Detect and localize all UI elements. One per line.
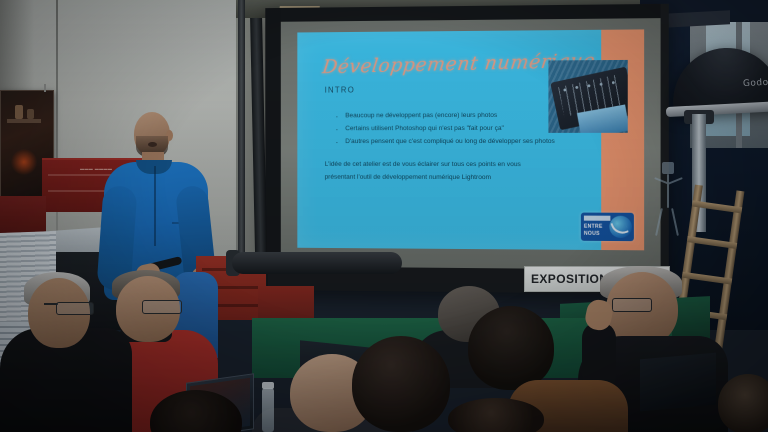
audience-head-curly (352, 336, 450, 432)
chalk-leg (655, 208, 663, 236)
projector-screen-roller (232, 252, 402, 274)
logo-top-bar (584, 216, 610, 221)
audience-glasses (142, 300, 182, 314)
logo-line-2: NOUS (584, 231, 600, 237)
slide-closing-text: L'idée de cet atelier est de vous éclair… (325, 159, 554, 185)
audience-head-dark (468, 306, 554, 390)
presentation-slide: Développement numérique INTRO Beaucoup n… (297, 29, 644, 250)
exposition-label: EXPOSITION (531, 272, 608, 286)
slide-bullet-list: Beaucoup ne développent pas (encore) leu… (336, 110, 556, 150)
audience-glasses (56, 302, 94, 315)
slide-section-label: INTRO (325, 86, 355, 95)
godox-brand-label: Godox (743, 77, 768, 89)
slide-bullet: D'autres pensent que c'est compliqué ou … (345, 136, 556, 148)
audience-head-front (448, 398, 544, 432)
presenter-mouth (148, 142, 157, 147)
logo-line-1: ENTRE (584, 224, 603, 230)
projection-screen: Développement numérique INTRO Beaucoup n… (265, 4, 669, 294)
artwork-hook (44, 84, 46, 92)
artwork-shelf (7, 119, 41, 123)
chalk-figure-drawing (648, 162, 688, 242)
screen-frame-top (265, 4, 669, 22)
slide-bullet: Certains utilisent Photoshop qui n'est p… (345, 123, 556, 135)
artwork-glow (11, 149, 37, 175)
screen-frame-right (661, 4, 669, 294)
chalk-head (662, 162, 674, 174)
chalk-body (667, 174, 669, 208)
presenter-zipper (154, 166, 156, 246)
laptop-right (640, 353, 716, 412)
chalk-leg (671, 208, 679, 236)
chalk-arm (667, 177, 683, 185)
red-crate-lower-left (0, 196, 46, 236)
slide-photo-tablet (548, 60, 627, 133)
photo-scene: ▬▬▬ ▬▬▬▬ Développement numérique INTRO B… (0, 0, 768, 432)
screen-frame-left (265, 8, 281, 290)
artwork-jar (15, 105, 23, 119)
water-bottle (262, 388, 274, 432)
hanging-wire (56, 0, 58, 250)
artwork-jar-secondary (27, 109, 34, 119)
audience-head-far-right (718, 374, 768, 432)
audience-glasses (612, 298, 652, 312)
slide-bullet: Beaucoup ne développent pas (encore) leu… (345, 110, 556, 123)
slide-logo-entre-nous: ENTRE NOUS (581, 213, 634, 242)
